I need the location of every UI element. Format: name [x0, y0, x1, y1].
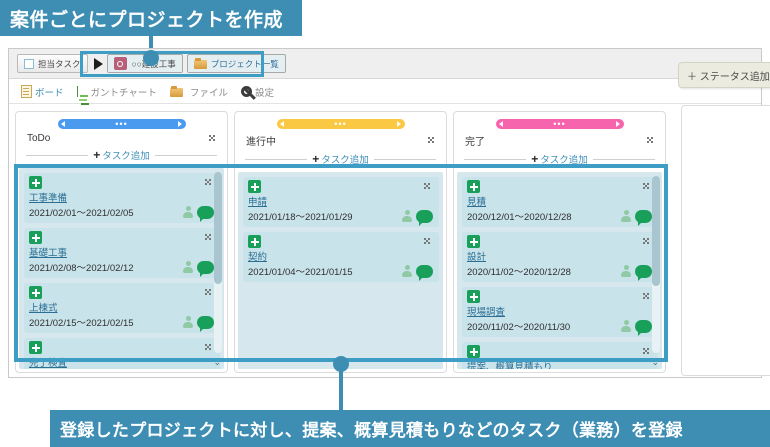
move-handle-icon[interactable] — [467, 180, 480, 193]
bottom-caption-connector-dot — [333, 356, 349, 372]
task-card[interactable]: 工事準備 2021/02/01〜2021/02/05 — [24, 173, 220, 223]
task-card[interactable]: 現場調査 2020/11/02〜2020/11/30 — [462, 287, 658, 337]
task-card[interactable]: 提案、概算見積もり — [462, 342, 658, 369]
menu-item-file-label: ファイル — [190, 85, 228, 99]
card-bottom-row: 2021/02/08〜2021/02/12 — [29, 260, 214, 274]
status-bar-wrap: ••• — [235, 112, 446, 132]
assignee-icon[interactable] — [183, 206, 193, 218]
task-card[interactable]: 基礎工事 2021/02/08〜2021/02/12 — [24, 228, 220, 278]
card-list-in-progress: 申請 2021/01/18〜2021/01/29 契約 — [238, 172, 443, 369]
card-icons — [183, 316, 214, 329]
status-color-bar-in-progress[interactable]: ••• — [277, 119, 405, 129]
task-card-dates: 2020/11/02〜2020/11/30 — [467, 319, 570, 333]
scrollbar-thumb[interactable] — [214, 172, 222, 284]
column-scrollbar[interactable] — [652, 176, 660, 353]
comment-bubble-icon[interactable] — [635, 265, 652, 278]
card-top-row — [467, 180, 652, 193]
column-title-todo: ToDo — [27, 133, 50, 144]
card-list-done: 見積 2020/12/01〜2020/12/28 設計 — [457, 172, 662, 369]
card-bottom-row: 2020/12/01〜2020/12/28 — [467, 209, 652, 223]
task-card[interactable]: 申請 2021/01/18〜2021/01/29 — [243, 177, 439, 227]
add-task-row-done[interactable]: + タスク追加 — [454, 148, 665, 172]
card-top-row — [248, 180, 433, 193]
folder-people-icon — [194, 59, 207, 69]
card-bottom-row: 2021/02/01〜2021/02/05 — [29, 205, 214, 219]
assignee-icon[interactable] — [621, 265, 631, 277]
add-task-label-text: タスク追加 — [102, 148, 150, 162]
project-list-tab-label: プロジェクト一覧 — [211, 58, 279, 70]
chevron-right-icon[interactable] — [616, 121, 620, 127]
card-icons — [183, 261, 214, 274]
column-scrollbar[interactable] — [214, 172, 222, 353]
divider-right — [593, 159, 655, 160]
card-menu-grip-icon[interactable] — [424, 238, 433, 245]
column-menu-grip-icon[interactable] — [428, 137, 437, 144]
task-card[interactable]: 完了検査 — [24, 338, 220, 369]
task-card-title[interactable]: 完了検査 — [29, 355, 214, 369]
checkbox-icon — [24, 59, 34, 69]
menu-item-board-label: ボード — [35, 85, 64, 99]
dots-icon: ••• — [334, 122, 346, 127]
card-bottom-row: 2020/11/02〜2020/11/30 — [467, 319, 652, 333]
column-title-done: 完了 — [465, 133, 485, 148]
move-handle-icon[interactable] — [29, 176, 42, 189]
task-card[interactable]: 見積 2020/12/01〜2020/12/28 — [462, 177, 658, 227]
column-title-row: ToDo — [16, 132, 227, 144]
card-icons — [621, 210, 652, 223]
card-menu-grip-icon[interactable] — [643, 293, 652, 300]
add-task-button-todo[interactable]: + タスク追加 — [93, 148, 150, 162]
top-caption-text: 案件ごとにプロジェクトを作成 — [10, 5, 283, 32]
task-card-dates: 2021/01/04〜2021/01/15 — [248, 264, 353, 278]
add-task-label-text: タスク追加 — [321, 152, 369, 166]
comment-bubble-icon[interactable] — [635, 210, 652, 223]
chevron-right-icon[interactable] — [178, 121, 182, 127]
menu-item-board[interactable]: ボード — [21, 85, 64, 99]
project-toolbar: 担当タスク ○○建設工事 プロジェクト一覧 — [9, 49, 761, 79]
column-menu-grip-icon[interactable] — [647, 137, 656, 144]
card-list-todo: 工事準備 2021/02/01〜2021/02/05 基礎工事 — [19, 168, 224, 369]
plus-icon: + — [93, 151, 100, 160]
status-bar-wrap: ••• — [16, 112, 227, 132]
comment-bubble-icon[interactable] — [416, 210, 433, 223]
task-card-title[interactable]: 提案、概算見積もり — [467, 359, 652, 369]
task-card-dates: 2021/02/15〜2021/02/15 — [29, 315, 134, 329]
card-top-row — [248, 235, 433, 248]
task-card[interactable]: 上棟式 2021/02/15〜2021/02/15 — [24, 283, 220, 333]
task-card-title[interactable]: 上棟式 — [29, 300, 214, 314]
move-handle-icon[interactable] — [467, 345, 480, 358]
comment-bubble-icon[interactable] — [197, 316, 214, 329]
my-tasks-tab[interactable]: 担当タスク — [17, 54, 88, 73]
add-task-label-text: タスク追加 — [540, 152, 588, 166]
assignee-icon[interactable] — [183, 261, 193, 273]
task-card-dates: 2021/02/01〜2021/02/05 — [29, 205, 134, 219]
column-menu-grip-icon[interactable] — [209, 135, 218, 142]
menu-item-file[interactable]: ファイル — [170, 85, 228, 99]
card-menu-grip-icon[interactable] — [205, 234, 214, 241]
task-card-title[interactable]: 見積 — [467, 194, 652, 208]
column-title-row: 進行中 — [235, 132, 446, 148]
assignee-icon[interactable] — [621, 320, 631, 332]
divider-left — [464, 159, 526, 160]
add-status-label: ＋ ステータス追加 — [687, 68, 770, 83]
card-menu-grip-icon[interactable] — [205, 344, 214, 351]
status-color-bar-done[interactable]: ••• — [496, 119, 624, 129]
scrollbar-thumb[interactable] — [652, 176, 660, 286]
scroll-down-caret-icon[interactable]: ⌄ — [213, 358, 221, 366]
folder-icon — [170, 87, 183, 97]
move-handle-icon[interactable] — [467, 235, 480, 248]
card-menu-grip-icon[interactable] — [643, 183, 652, 190]
comment-bubble-icon[interactable] — [197, 261, 214, 274]
task-card-title[interactable]: 工事準備 — [29, 190, 214, 204]
kanban-column-in-progress: ••• 進行中 + タスク追加 — [234, 111, 447, 373]
move-handle-icon[interactable] — [29, 286, 42, 299]
bottom-caption-text: 登録したプロジェクトに対し、提案、概算見積もりなどのタスク（業務）を登録 — [60, 416, 683, 441]
application-window: 担当タスク ○○建設工事 プロジェクト一覧 ボード ガントチャート ファイル 設… — [8, 48, 762, 378]
comment-bubble-icon[interactable] — [416, 265, 433, 278]
play-triangle-icon[interactable] — [94, 58, 103, 70]
add-task-row-in-progress[interactable]: + タスク追加 — [235, 148, 446, 172]
project-circle-icon — [114, 57, 127, 70]
card-top-row — [29, 231, 214, 244]
card-top-row — [29, 176, 214, 189]
task-card-title[interactable]: 設計 — [467, 249, 652, 263]
card-menu-grip-icon[interactable] — [205, 289, 214, 296]
card-bottom-row: 2021/02/15〜2021/02/15 — [29, 315, 214, 329]
card-top-row — [467, 235, 652, 248]
move-handle-icon[interactable] — [248, 180, 261, 193]
menu-item-settings[interactable]: 設定 — [241, 85, 274, 99]
gear-icon — [241, 86, 252, 97]
menu-item-settings-label: 設定 — [255, 85, 274, 99]
card-top-row — [29, 341, 214, 354]
assignee-icon[interactable] — [402, 210, 412, 222]
task-card[interactable]: 設計 2020/11/02〜2020/12/28 — [462, 232, 658, 282]
card-icons — [621, 265, 652, 278]
card-menu-grip-icon[interactable] — [643, 238, 652, 245]
gantt-chart-icon — [77, 86, 88, 97]
chevron-left-icon[interactable] — [61, 121, 65, 127]
status-color-bar-todo[interactable]: ••• — [58, 119, 186, 129]
assignee-icon[interactable] — [402, 265, 412, 277]
card-top-row — [467, 345, 652, 358]
plus-icon: + — [531, 155, 538, 164]
move-handle-icon[interactable] — [29, 341, 42, 354]
menu-item-gantt[interactable]: ガントチャート — [77, 85, 157, 99]
card-menu-grip-icon[interactable] — [643, 348, 652, 355]
task-card-dates: 2021/01/18〜2021/01/29 — [248, 209, 353, 223]
kanban-column-todo: ••• ToDo + タスク追加 — [15, 111, 228, 373]
chevron-right-icon[interactable] — [397, 121, 401, 127]
comment-bubble-icon[interactable] — [197, 206, 214, 219]
card-menu-grip-icon[interactable] — [424, 183, 433, 190]
card-top-row — [29, 286, 214, 299]
divider-right — [155, 155, 217, 156]
plus-icon: + — [312, 155, 319, 164]
card-icons — [402, 265, 433, 278]
dots-icon: ••• — [115, 122, 127, 127]
kanban-board: ••• ToDo + タスク追加 — [9, 105, 761, 377]
task-card-title[interactable]: 契約 — [248, 249, 433, 263]
card-top-row — [467, 290, 652, 303]
card-bottom-row: 2020/11/02〜2020/12/28 — [467, 264, 652, 278]
card-bottom-row: 2021/01/18〜2021/01/29 — [248, 209, 433, 223]
assignee-icon[interactable] — [183, 316, 193, 328]
dots-icon: ••• — [553, 122, 565, 127]
add-status-button[interactable]: ＋ ステータス追加 — [678, 62, 770, 88]
add-task-button-done[interactable]: + タスク追加 — [531, 152, 588, 166]
add-task-button-in-progress[interactable]: + タスク追加 — [312, 152, 369, 166]
comment-bubble-icon[interactable] — [635, 320, 652, 333]
move-handle-icon[interactable] — [467, 290, 480, 303]
kanban-column-done: ••• 完了 + タスク追加 — [453, 111, 666, 373]
card-icons — [183, 206, 214, 219]
divider-right — [374, 159, 436, 160]
document-icon — [21, 85, 32, 98]
scroll-down-caret-icon[interactable]: ⌄ — [651, 358, 659, 366]
task-card-title[interactable]: 基礎工事 — [29, 245, 214, 259]
task-card-title[interactable]: 現場調査 — [467, 304, 652, 318]
project-menubar: ボード ガントチャート ファイル 設定 — [9, 80, 761, 104]
chevron-left-icon[interactable] — [280, 121, 284, 127]
card-menu-grip-icon[interactable] — [205, 179, 214, 186]
task-card-dates: 2020/12/01〜2020/12/28 — [467, 209, 572, 223]
task-card-dates: 2020/11/02〜2020/12/28 — [467, 264, 571, 278]
divider-left — [245, 159, 307, 160]
task-card-title[interactable]: 申請 — [248, 194, 433, 208]
top-caption-connector-dot — [143, 50, 159, 66]
bottom-caption-banner: 登録したプロジェクトに対し、提案、概算見積もりなどのタスク（業務）を登録 — [50, 410, 770, 447]
my-tasks-tab-label: 担当タスク — [38, 58, 81, 70]
project-list-tab[interactable]: プロジェクト一覧 — [187, 54, 286, 73]
add-task-row-todo[interactable]: + タスク追加 — [16, 144, 227, 168]
card-icons — [621, 320, 652, 333]
chevron-left-icon[interactable] — [499, 121, 503, 127]
card-icons — [402, 210, 433, 223]
card-bottom-row: 2021/01/04〜2021/01/15 — [248, 264, 433, 278]
top-caption-banner: 案件ごとにプロジェクトを作成 — [0, 0, 302, 36]
column-title-row: 完了 — [454, 132, 665, 148]
menu-item-gantt-label: ガントチャート — [91, 85, 157, 99]
assignee-icon[interactable] — [621, 210, 631, 222]
move-handle-icon[interactable] — [29, 231, 42, 244]
divider-left — [26, 155, 88, 156]
column-title-in-progress: 進行中 — [246, 133, 276, 148]
task-card-dates: 2021/02/08〜2021/02/12 — [29, 260, 134, 274]
status-bar-wrap: ••• — [454, 112, 665, 132]
move-handle-icon[interactable] — [248, 235, 261, 248]
add-status-panel-frame — [681, 105, 770, 376]
task-card[interactable]: 契約 2021/01/04〜2021/01/15 — [243, 232, 439, 282]
